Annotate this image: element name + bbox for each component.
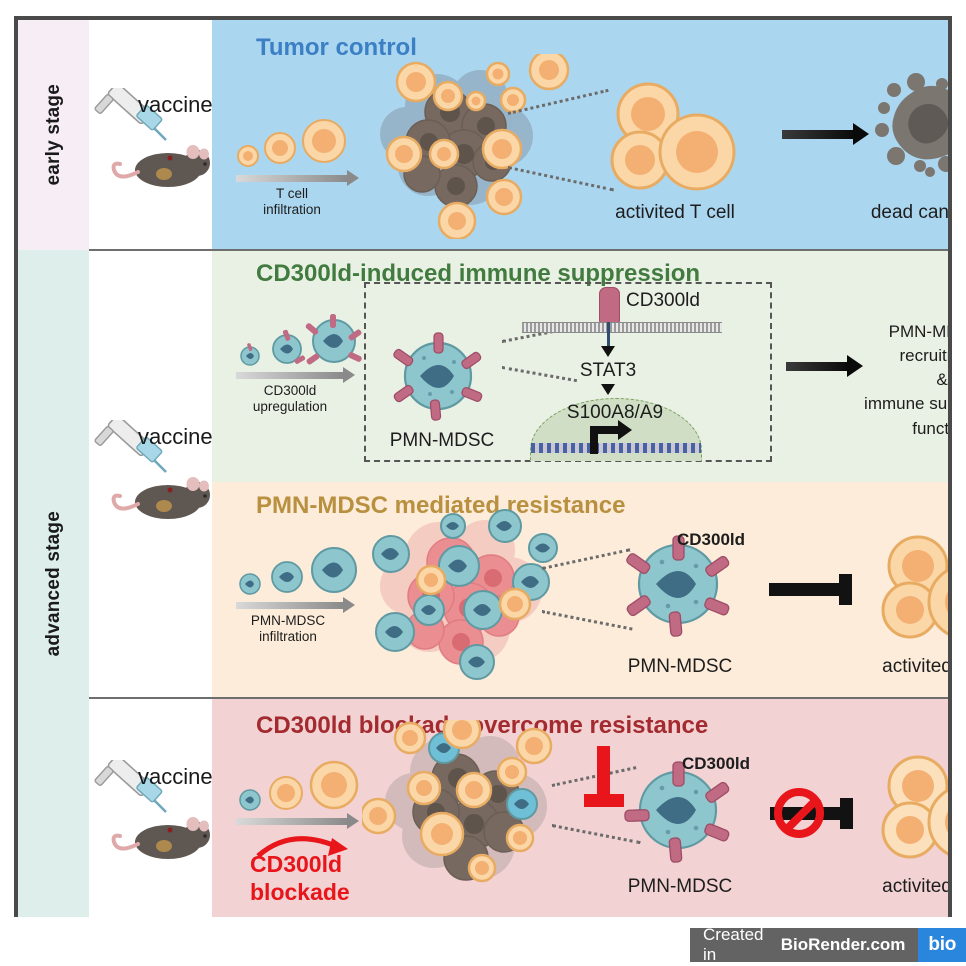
promoter-tip [618, 420, 632, 440]
mdsc-infiltration-label: PMN-MDSC infiltration [228, 613, 348, 645]
outcome-arrow [786, 362, 848, 371]
tumor-mass-mdsc-infiltrated [357, 504, 587, 684]
figure-frame: early stage advanced stage Tumor control… [14, 16, 952, 917]
cd300ld-receptor-label-p4: CD300ld [682, 754, 802, 774]
biorender-badge: Created in BioRender.com bio [690, 928, 966, 962]
dead-cancer-cell [872, 72, 948, 182]
biorender-logo: bio [918, 928, 966, 962]
activated-t-cell-cluster [600, 80, 750, 195]
blockade-cell-group [234, 758, 374, 816]
blockade-cap [584, 794, 624, 807]
promoter-bar [590, 426, 620, 434]
pmn-mdsc-label-p3: PMN-MDSC [610, 656, 750, 678]
pmn-mdsc-cell [380, 322, 500, 432]
stage-label-early: early stage [18, 20, 89, 250]
t-cell-infiltration-arrow [236, 175, 348, 182]
no-entry-icon [774, 788, 824, 838]
activated-t-cell-cluster-p4 [872, 754, 948, 866]
panel-cd300ld-blockade: CD300ld blockade overcome resistance CD3… [212, 698, 948, 917]
panel-tumor-control: Tumor control T cell infiltration [212, 20, 948, 250]
blockade-stem [597, 746, 610, 800]
vaccine-label-3: vaccine [138, 764, 213, 790]
vaccine-label-1: vaccine [138, 92, 213, 118]
activated-t-cell-label-p4: activited T cell [862, 876, 948, 898]
biorender-text: Created in BioRender.com [690, 928, 918, 962]
cd300ld-blockade-inhibition-icon [584, 746, 624, 808]
activated-t-cell-label: activited T cell [600, 202, 750, 224]
activated-t-cell-label-p3: activited T cell [862, 656, 948, 678]
promoter-arrow-icon [590, 426, 638, 454]
kill-arrow [782, 130, 854, 139]
t-cell-gradient-group [232, 116, 372, 176]
cell-membrane [522, 322, 722, 333]
divider-1 [89, 249, 948, 251]
outcome-text-block: PMN-MDSCs: recruitment & immune suppress… [852, 320, 948, 441]
inhibition-bar [769, 574, 854, 605]
stage-label-advanced: advanced stage [18, 250, 89, 917]
cd300ld-receptor-icon [599, 287, 620, 327]
mdsc-infiltration-arrow [236, 602, 344, 609]
inhibition-cap [839, 574, 852, 605]
cd300ld-upregulation-label: CD300ld upregulation [230, 383, 350, 415]
tumor-mass-infiltrated [352, 54, 602, 239]
biorender-logo-text: bio [928, 934, 956, 956]
divider-3 [89, 697, 948, 699]
panel-immune-suppression: CD300ld-induced immune suppression [212, 250, 948, 482]
panel-mdsc-resistance: PMN-MDSC mediated resistance PMN-MDSC in… [212, 482, 948, 698]
stat3-label: STAT3 [562, 360, 654, 382]
inhibition-stem [769, 583, 845, 596]
stage-label-advanced-text: advanced stage [43, 511, 65, 656]
inhibition-cap-disabled [840, 798, 853, 829]
pmn-mdsc-label: PMN-MDSC [372, 430, 512, 452]
mdsc-infiltration-group [234, 544, 369, 602]
signal-stem-1 [607, 322, 610, 348]
vaccine-label-2: vaccine [138, 424, 213, 450]
stage-label-early-text: early stage [43, 84, 65, 186]
biorender-created-in: Created in [703, 925, 776, 965]
dead-cancer-cell-label: dead cancer cell [860, 202, 948, 224]
signal-arrow-1 [601, 346, 615, 357]
activated-t-cell-cluster-p3 [872, 534, 948, 646]
cd300ld-receptor-label-p3: CD300ld [677, 530, 797, 550]
s100a8-a9-label: S100A8/A9 [530, 402, 700, 424]
tumor-mass-t-cell-dominant [362, 720, 592, 895]
cd300ld-blockade-label: CD300ld blockade [250, 850, 350, 906]
t-cell-infiltration-label: T cell infiltration [232, 186, 352, 218]
signal-arrow-2 [601, 384, 615, 395]
figure-canvas: early stage advanced stage Tumor control… [0, 0, 966, 966]
biorender-brand: BioRender.com [781, 935, 906, 955]
cd300ld-receptor-label: CD300ld [626, 290, 746, 312]
pmn-mdsc-label-p4: PMN-MDSC [610, 876, 750, 898]
cd300ld-upregulation-arrow [236, 372, 344, 379]
mdsc-gradient-group [234, 312, 369, 374]
